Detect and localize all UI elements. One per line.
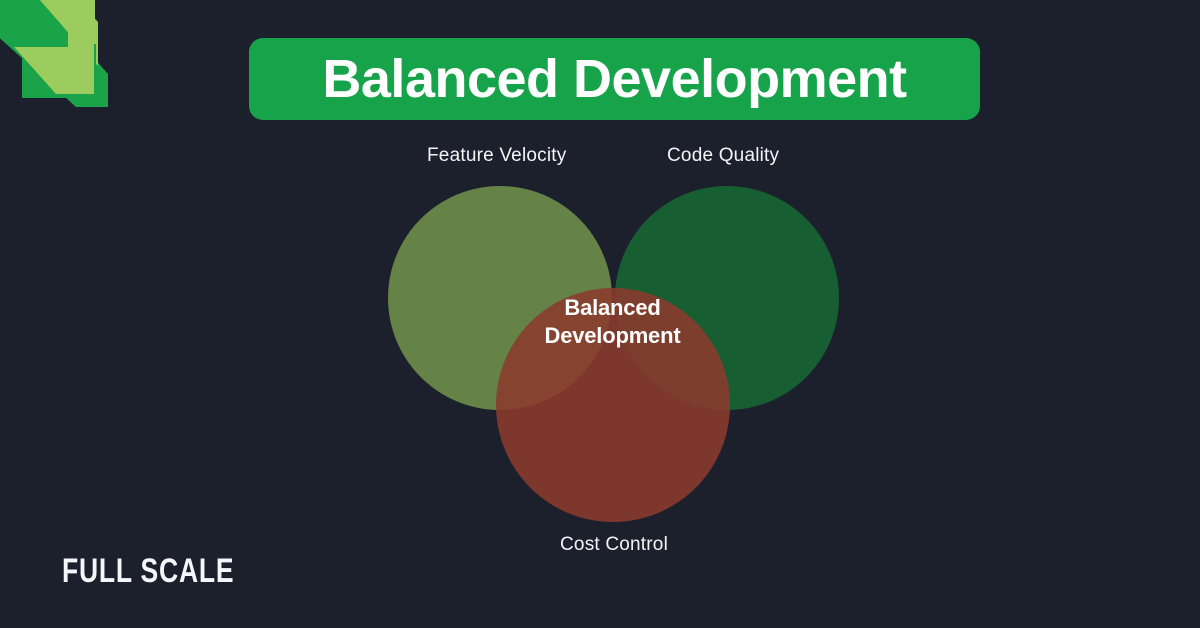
venn-circles (388, 186, 839, 522)
venn-center-label-line-1: Balanced (490, 294, 735, 322)
venn-label-feature-velocity: Feature Velocity (427, 145, 566, 167)
brand-wordmark: FULL SCALE (62, 552, 234, 591)
infographic-canvas: Balanced Development Feature Velocity Co… (0, 0, 1200, 628)
venn-label-code-quality: Code Quality (667, 145, 779, 167)
venn-label-cost-control: Cost Control (560, 534, 668, 556)
venn-center-label: Balanced Development (490, 294, 735, 349)
venn-center-label-line-2: Development (490, 322, 735, 350)
